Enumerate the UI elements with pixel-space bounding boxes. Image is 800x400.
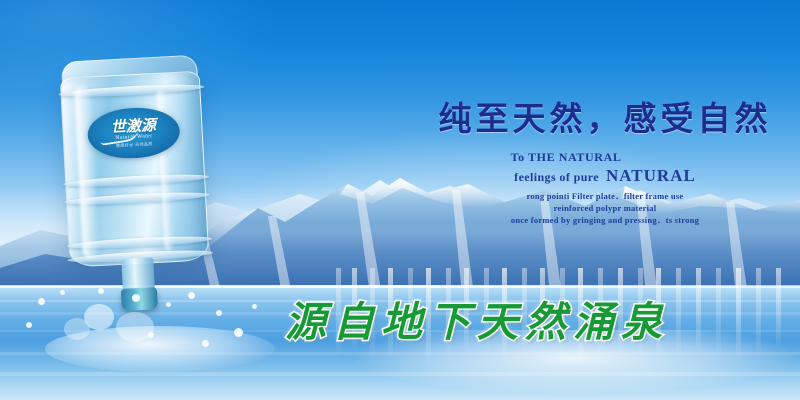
- fine-print-line: once formed by gringing and pressing．ts …: [420, 214, 790, 226]
- subtitle-line-2: feelings of pureNATURAL: [420, 166, 790, 186]
- fine-print-line: rong pointi Filter plate．filter frame us…: [420, 190, 790, 202]
- water-droplet: [166, 302, 171, 307]
- water-droplet: [38, 298, 45, 305]
- water-splash: [20, 288, 290, 384]
- water-droplet: [60, 290, 65, 295]
- water-droplet: [26, 322, 32, 328]
- subtitle-line-1: To THE NATURAL: [420, 150, 790, 165]
- water-droplet: [148, 332, 154, 338]
- water-droplet: [202, 340, 209, 347]
- fine-print-line: reinforced polypr material: [420, 202, 790, 214]
- water-droplet: [98, 288, 104, 294]
- water-droplet: [132, 294, 140, 302]
- marketing-copy: 纯至天然，感受自然 To THE NATURAL feelings of pur…: [420, 100, 790, 226]
- slogan-calligraphy: 源自地下天然涌泉: [262, 288, 692, 348]
- subtitle-line-2-small: feelings of pure: [514, 170, 599, 184]
- page-title: 纯至天然，感受自然: [420, 100, 790, 138]
- water-droplet: [188, 292, 195, 299]
- water-droplet: [252, 304, 257, 309]
- splash-blob: [64, 318, 90, 340]
- water-banner: 世激源 Natural Water 健康好水·天然品质 纯至天然，感受自然 To…: [0, 0, 800, 400]
- water-bottle: 世激源 Natural Water 健康好水·天然品质: [51, 48, 224, 306]
- subtitle-line-2-big: NATURAL: [606, 166, 696, 185]
- water-droplet: [234, 328, 243, 337]
- splash-blob: [116, 312, 154, 342]
- water-droplet: [216, 310, 222, 316]
